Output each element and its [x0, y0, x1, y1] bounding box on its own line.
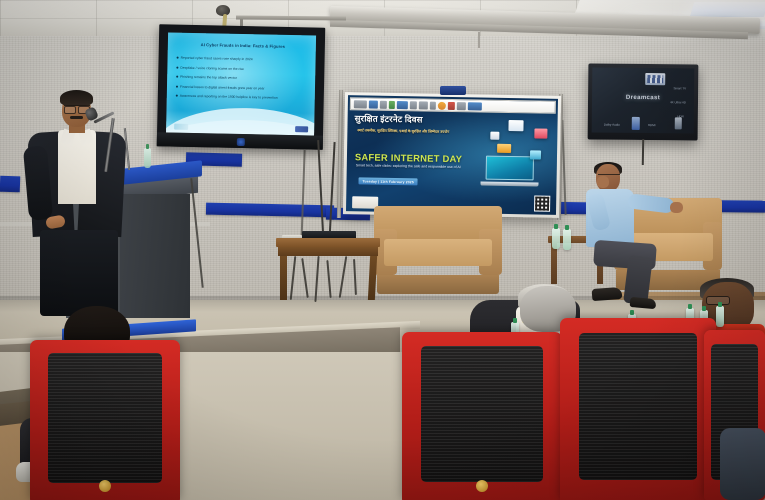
banner-headline-hindi: सुरक्षित इंटरनेट दिवस [355, 114, 483, 126]
banner-partner-logo-strip [350, 97, 556, 114]
wall-mounted-tv: Dreamcast Smart TV 4K Ultra HD HDR Dolby… [588, 63, 699, 140]
water-bottle [144, 148, 151, 168]
tv-port-icon [632, 117, 640, 130]
banner-subtitle-hindi: स्मार्ट तकनीक, सुरक्षित क्लिक्स, एआई के … [357, 128, 473, 135]
nixi-icon [419, 101, 428, 109]
water-bottle [552, 228, 560, 249]
panelist-hand [597, 176, 609, 188]
tv-brand-label: Dreamcast [626, 95, 660, 101]
tv-feature-label: HDMI [648, 123, 656, 127]
water-bottle [563, 229, 571, 250]
projection-screen: AI Cyber Frauds in India: Facts & Figure… [157, 24, 326, 149]
cable-bundle [288, 256, 368, 302]
slide-bullet-list: Reported cyber fraud cases rose sharply … [176, 56, 311, 106]
app-card-graphic [497, 144, 511, 153]
armchair-base [377, 275, 500, 294]
banner-subtitle-english: Smart tech, safe clicks: exploring the s… [356, 163, 468, 170]
safer-internet-day-icon [468, 102, 482, 110]
water-bottle [716, 306, 724, 327]
banner-date-badge: Tuesday | 11th February 2025 [358, 177, 417, 185]
app-card-graphic [530, 150, 541, 159]
isea-icon [410, 101, 417, 109]
seat-emblem-icon [476, 480, 488, 492]
nic-icon [389, 100, 395, 108]
banner-artwork: सुरक्षित इंटरनेट दिवस स्मार्ट तकनीक, सुर… [346, 95, 558, 215]
panelist-arm [627, 193, 674, 213]
table-apron [278, 247, 378, 256]
slide-bullet: Deepfake / voice cloning scams on the ri… [176, 65, 310, 72]
cert-in-icon [380, 100, 387, 108]
slide-bullet: Financial losses to digital arrest fraud… [176, 84, 310, 91]
speaker-mustache [70, 116, 83, 119]
av-cable [478, 32, 480, 48]
table-leg [368, 256, 377, 300]
screen-brand-icon [237, 138, 245, 146]
table-leg [280, 256, 287, 300]
auditorium-seat [402, 332, 562, 500]
seat-mesh-back [421, 346, 543, 482]
auditorium-seat [30, 340, 180, 500]
presentation-slide: AI Cyber Frauds in India: Facts & Figure… [166, 32, 316, 135]
laptop-screen-graphic [486, 156, 534, 181]
seat-emblem-icon [99, 480, 111, 492]
tv-feature-label: Smart TV [673, 86, 686, 90]
event-banner: सुरक्षित इंटरनेट दिवस स्मार्ट तकनीक, सुर… [343, 92, 561, 218]
panelist-shoe [630, 297, 657, 309]
app-card-graphic [534, 128, 547, 138]
audience-member-leg [720, 428, 765, 500]
slide-footer-logo-icon [174, 124, 188, 130]
meity-icon [369, 100, 378, 108]
c-dac-icon [438, 101, 446, 109]
partner-logo-icon [457, 102, 466, 110]
tv-feature-label: Dolby Audio [604, 123, 620, 127]
ceiling-light [690, 2, 765, 17]
panelist-hand [670, 202, 683, 213]
speaker-hair [60, 90, 93, 106]
seated-panelist [580, 164, 690, 304]
app-card-graphic [508, 120, 523, 131]
banner-headline-english: SAFER INTERNET DAY [355, 151, 483, 164]
armchair-empty [374, 206, 502, 294]
qr-code-icon [534, 195, 550, 211]
slide-bullet: Awareness and reporting on the 1930 help… [176, 94, 310, 101]
laptop-graphic [480, 156, 539, 187]
laptop-base-graphic [480, 182, 538, 187]
seat-mesh-back [579, 333, 698, 480]
partner-logo-icon [448, 101, 455, 109]
tv-screen: Dreamcast Smart TV 4K Ultra HD HDR Dolby… [592, 67, 695, 133]
tv-logo-icon [645, 73, 665, 85]
auditorium-seat [560, 318, 716, 500]
slide-bullet: Phishing remains the top attack vector [176, 75, 310, 82]
auditorium-photo: AI Cyber Frauds in India: Facts & Figure… [0, 0, 765, 500]
stqc-icon [430, 101, 436, 109]
table-top [276, 238, 380, 247]
seat-mesh-back [48, 353, 162, 483]
speaker-at-podium [18, 88, 138, 318]
digital-india-icon [397, 101, 408, 109]
armchair-seat [384, 239, 492, 265]
panelist-shoe [592, 287, 623, 301]
banner-clamp [440, 86, 466, 95]
app-card-graphic [490, 132, 499, 140]
tv-feature-label: 4K Ultra HD [670, 100, 686, 104]
emblem-of-india-icon [354, 100, 367, 108]
slide-footer-logo-icon [295, 126, 308, 132]
tv-port-icon [675, 117, 682, 129]
speaker-lower-body [40, 230, 118, 316]
